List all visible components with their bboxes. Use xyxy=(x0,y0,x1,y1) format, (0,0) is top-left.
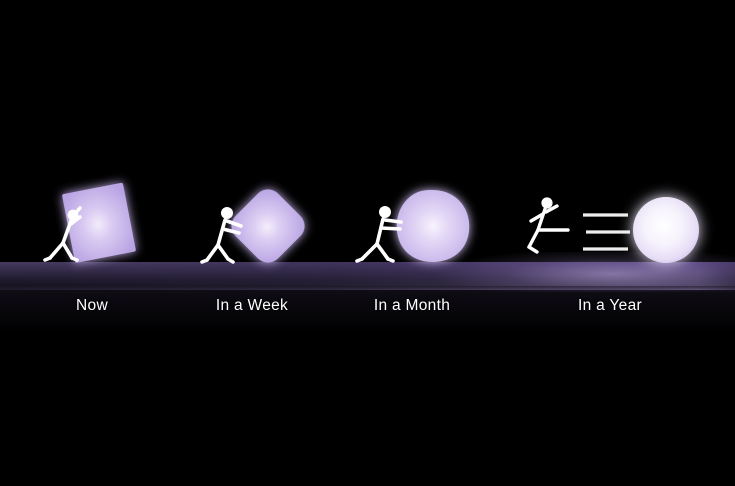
figure-torso xyxy=(218,220,225,245)
figure-head xyxy=(379,206,391,218)
figure-foot-back xyxy=(202,260,207,262)
figure-head xyxy=(541,197,552,208)
figure-leg-trailing xyxy=(529,230,538,247)
motion-lines xyxy=(583,215,630,249)
stage-label-in-a-month: In a Month xyxy=(374,297,450,315)
figure-leg-back xyxy=(207,245,218,260)
figure-running xyxy=(529,197,568,252)
figure-foot-front xyxy=(72,258,77,260)
figure-leg-front xyxy=(218,245,228,259)
figure-arm-lower xyxy=(381,228,400,229)
figure-leg-front xyxy=(377,244,388,259)
figure-foot-front xyxy=(388,259,393,261)
stage-label-in-a-year: In a Year xyxy=(578,297,642,315)
stage-label-now: Now xyxy=(76,297,108,315)
figure-foot-back xyxy=(45,258,50,260)
figure-torso xyxy=(377,219,383,244)
figure-foot-front xyxy=(228,259,233,262)
figure-foot-back xyxy=(357,259,362,261)
stage-year-group xyxy=(529,197,699,263)
figure-foot-trailing xyxy=(529,247,537,252)
stage-week-group xyxy=(202,184,310,269)
figure-torso xyxy=(538,209,545,230)
figure-leg-back xyxy=(362,244,377,259)
figure-steady-push xyxy=(357,206,401,261)
figure-head xyxy=(221,207,233,219)
stage-month-group xyxy=(357,190,469,262)
figure-leg-front xyxy=(63,243,72,258)
scene-figures xyxy=(0,0,735,486)
figure-leg-back xyxy=(50,243,63,258)
shape-sphere xyxy=(633,197,699,263)
shape-blob xyxy=(397,190,470,262)
stage-label-in-a-week: In a Week xyxy=(216,297,288,315)
stage-now-group xyxy=(45,183,136,264)
illustration-canvas: Now In a Week In a Month In a Year xyxy=(0,0,735,486)
figure-arm-upper xyxy=(385,220,401,222)
